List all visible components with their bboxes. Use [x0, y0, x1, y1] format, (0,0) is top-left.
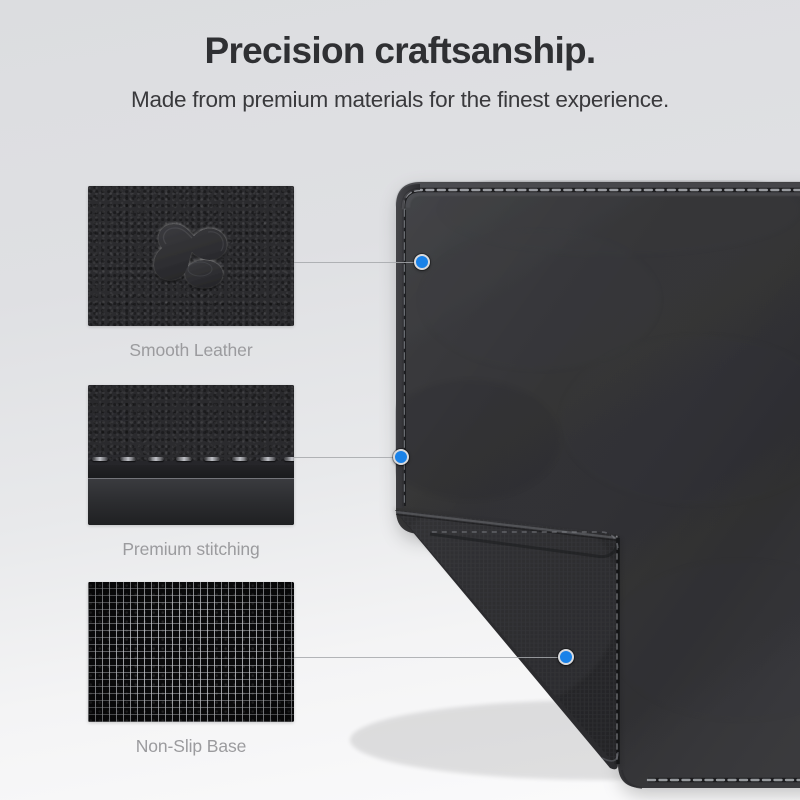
feature-premium-stitching: Premium stitching [88, 385, 294, 560]
leather-shadow-band [88, 465, 294, 479]
non-slip-base-thumbnail [88, 582, 294, 722]
leather-lower-panel [88, 479, 294, 525]
page-title: Precision craftsanship. [0, 0, 800, 73]
embossed-logo-icon [88, 186, 294, 326]
smooth-leather-thumbnail [88, 186, 294, 326]
feature-label-smooth-leather: Smooth Leather [88, 340, 294, 361]
premium-stitching-thumbnail [88, 385, 294, 525]
mesh-vignette [88, 582, 294, 722]
feature-smooth-leather: Smooth Leather [88, 186, 294, 361]
connector-line-premium-stitching [294, 457, 401, 458]
connector-line-smooth-leather [294, 262, 422, 263]
feature-label-non-slip-base: Non-Slip Base [88, 736, 294, 757]
callout-dot-non-slip-base[interactable] [558, 649, 574, 665]
callout-dot-smooth-leather[interactable] [414, 254, 430, 270]
feature-label-premium-stitching: Premium stitching [88, 539, 294, 560]
header: Precision craftsanship. Made from premiu… [0, 0, 800, 113]
callout-dot-premium-stitching[interactable] [393, 449, 409, 465]
feature-non-slip-base: Non-Slip Base [88, 582, 294, 757]
product-feature-image: Precision craftsanship. Made from premiu… [0, 0, 800, 800]
page-subtitle: Made from premium materials for the fine… [0, 73, 800, 113]
leather-upper-panel [88, 385, 294, 461]
stitch-thread-row [88, 455, 294, 465]
connector-line-non-slip-base [294, 657, 566, 658]
